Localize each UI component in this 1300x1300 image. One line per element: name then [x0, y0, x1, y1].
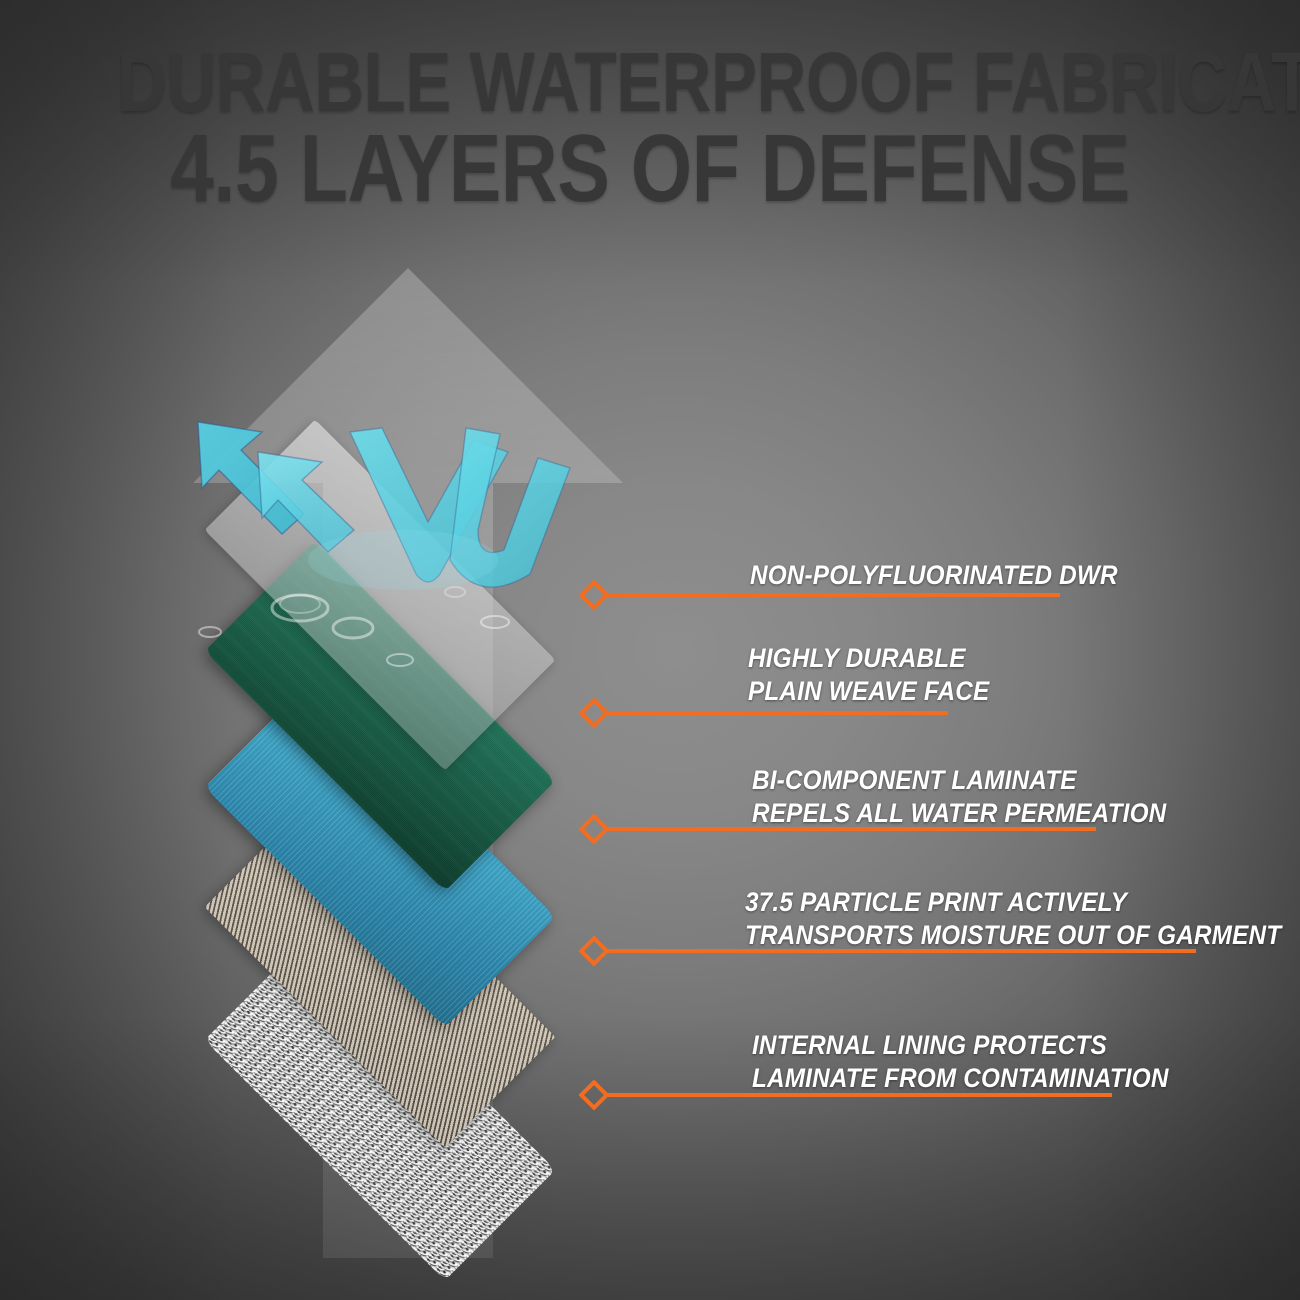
headline-block: DURABLE WATERPROOF FABRICATION 4.5 LAYER… — [0, 44, 1300, 214]
callout-plain-weave-line-1: HIGHLY DURABLE — [748, 643, 966, 674]
callout-laminate-line-2: REPELS ALL WATER PERMEATION — [752, 798, 1166, 829]
callout-plain-weave-line-2: PLAIN WEAVE FACE — [748, 676, 989, 707]
callout-laminate-line-1: BI-COMPONENT LAMINATE — [752, 765, 1077, 796]
headline-line-2: 4.5 LAYERS OF DEFENSE — [117, 125, 1183, 213]
callout-rule — [604, 593, 1060, 597]
callout-particle-print-line-1: 37.5 PARTICLE PRINT ACTIVELY — [745, 887, 1127, 918]
callout-rule — [604, 711, 948, 715]
callout-dwr-line-1: NON-POLYFLUORINATED DWR — [750, 560, 1118, 591]
callout-internal-lining-line-2: LAMINATE FROM CONTAMINATION — [752, 1063, 1169, 1094]
infographic-canvas: DURABLE WATERPROOF FABRICATION 4.5 LAYER… — [0, 0, 1300, 1300]
callout-particle-print-line-2: TRANSPORTS MOISTURE OUT OF GARMENT — [745, 920, 1281, 951]
headline-line-1: DURABLE WATERPROOF FABRICATION — [117, 44, 1183, 121]
callout-internal-lining-line-1: INTERNAL LINING PROTECTS — [752, 1030, 1107, 1061]
